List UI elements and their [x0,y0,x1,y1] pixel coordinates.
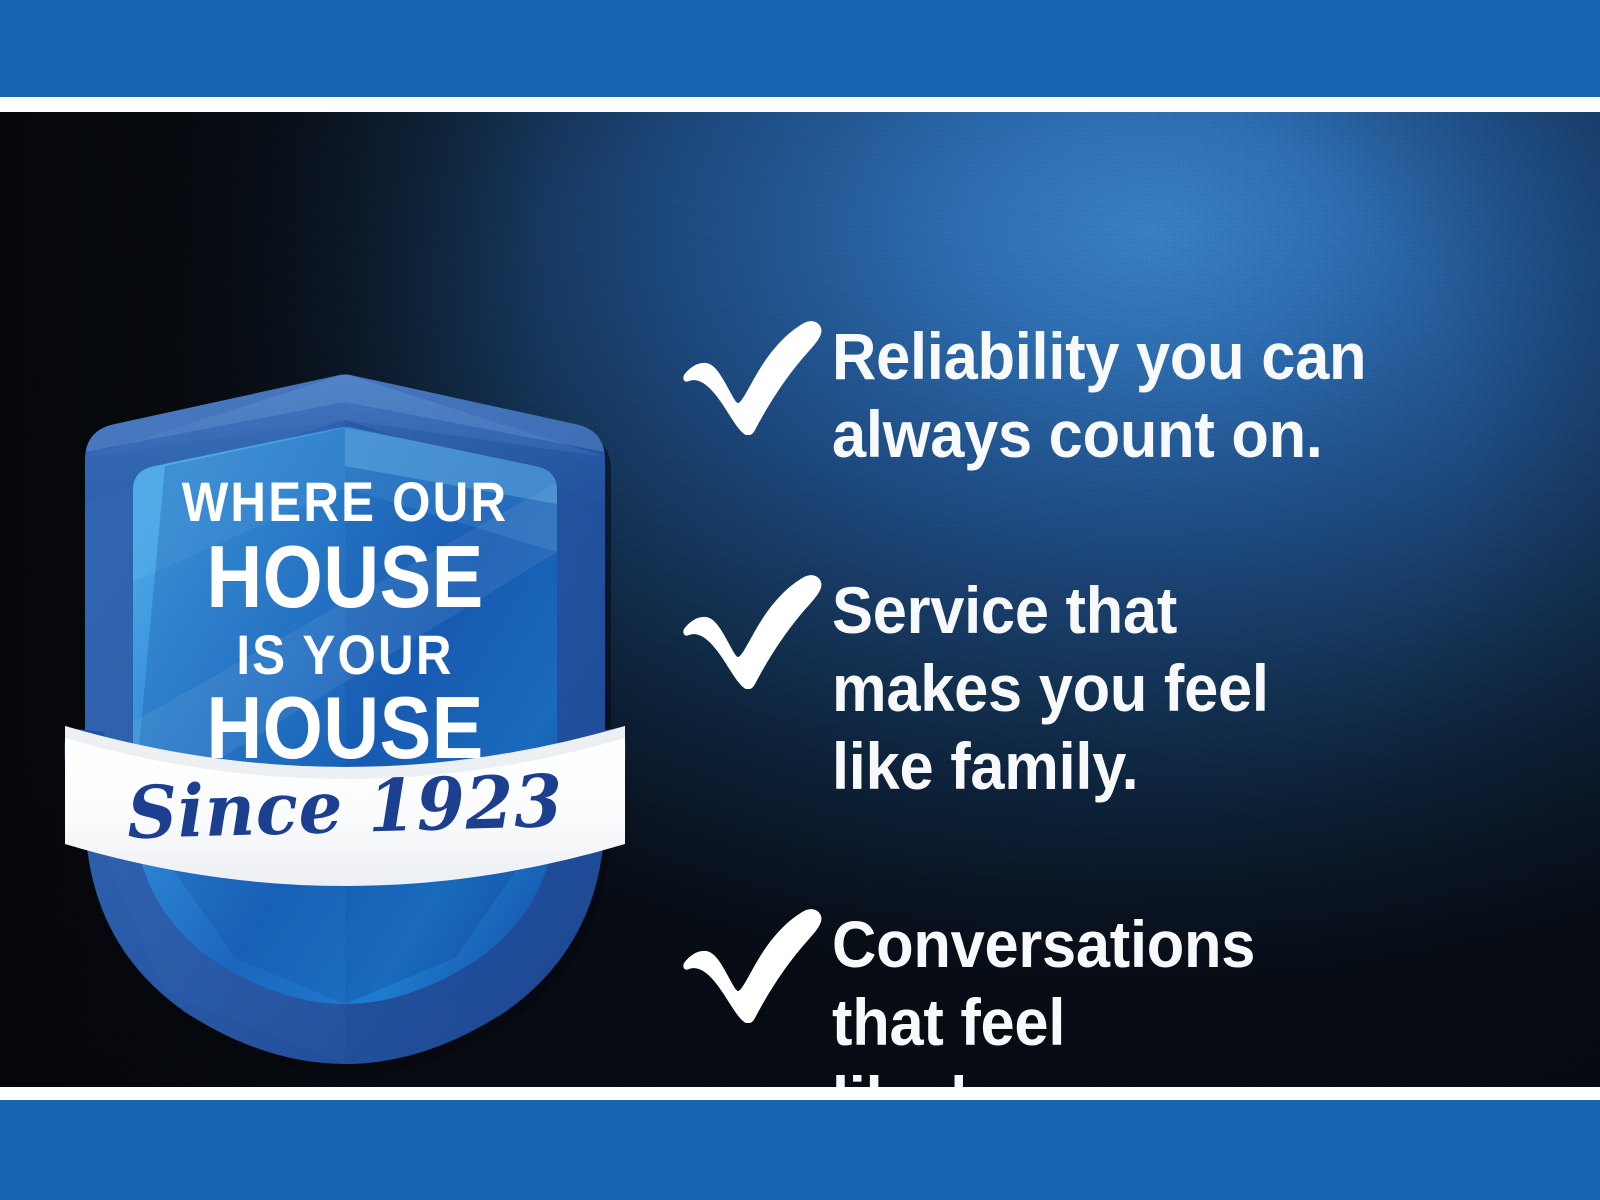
list-item-label: Service that makes you feel like family. [832,571,1487,805]
badge-since-script-text: Since 1923 [56,756,634,857]
main-panel: WHERE OUR HOUSE IS YOUR HOUSE Since 1923… [0,112,1600,1087]
top-divider-stripe [0,97,1600,112]
list-item-label: Conversations that feel like home. [832,905,1487,1087]
promo-graphic: WHERE OUR HOUSE IS YOUR HOUSE Since 1923… [0,0,1600,1200]
badge-tagline-line-3: IS YOUR [81,627,609,683]
check-icon [676,317,826,435]
check-icon [676,905,826,1023]
badge-tagline-line-1: WHERE OUR [81,474,609,530]
badge-tagline-line-2: HOUSE [81,533,609,621]
top-brand-bar [0,0,1600,97]
list-item-label: Reliability you can always count on. [832,317,1487,473]
shield-badge: WHERE OUR HOUSE IS YOUR HOUSE Since 1923 [45,252,645,1072]
bottom-divider-stripe [0,1087,1600,1100]
list-item: Reliability you can always count on. [676,317,1536,473]
list-item: Service that makes you feel like family. [676,571,1536,805]
list-item: Conversations that feel like home. [676,905,1536,1087]
benefits-list: Reliability you can always count on. Ser… [676,317,1536,1087]
check-icon [676,571,826,689]
bottom-brand-bar [0,1100,1600,1200]
